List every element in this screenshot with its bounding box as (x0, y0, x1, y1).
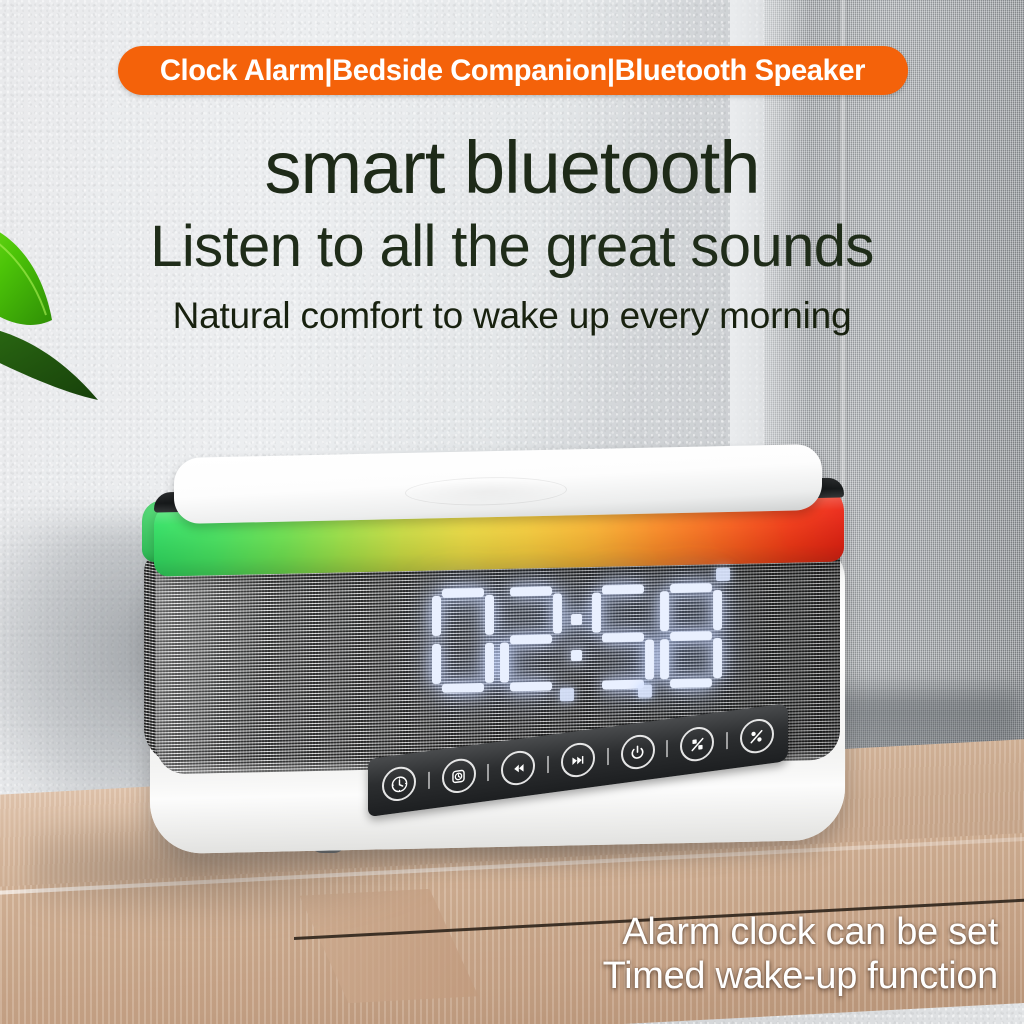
led-colon-separator (568, 585, 586, 689)
led-digit-hour-tens (432, 587, 494, 692)
control-separator (428, 771, 430, 788)
control-separator (487, 763, 489, 780)
clock-icon (390, 773, 409, 795)
wireless-charging-pad (174, 444, 822, 524)
headline-tertiary: Natural comfort to wake up every morning (0, 294, 1024, 338)
led-digit-minute-ones (660, 582, 722, 687)
power-icon (628, 741, 647, 763)
alarm-clock-icon (449, 765, 468, 787)
footer-line-1: Alarm clock can be set (603, 910, 998, 954)
control-separator (547, 755, 549, 772)
led-digit-hour-ones (500, 586, 562, 691)
headline-block: smart bluetooth Listen to all the great … (0, 130, 1024, 338)
led-clock-display (432, 572, 722, 703)
control-separator (607, 747, 609, 764)
power-button[interactable] (621, 733, 655, 772)
previous-track-button[interactable] (501, 749, 535, 788)
clock-button[interactable] (382, 765, 416, 804)
footer-line-2: Timed wake-up function (603, 954, 998, 998)
brightness-down-button[interactable] (680, 725, 714, 764)
footer-caption: Alarm clock can be set Timed wake-up fun… (603, 910, 998, 998)
top-banner: Clock Alarm|Bedside Companion|Bluetooth … (118, 46, 908, 95)
headline-primary: smart bluetooth (0, 130, 1024, 207)
alarm-button[interactable] (442, 757, 476, 796)
product-speaker (132, 455, 862, 870)
brightness-high-icon (747, 725, 766, 747)
brightness-up-button[interactable] (740, 717, 774, 756)
rewind-icon (509, 757, 528, 779)
control-separator (726, 731, 728, 748)
banner-text: Clock Alarm|Bedside Companion|Bluetooth … (160, 54, 865, 88)
headline-secondary: Listen to all the great sounds (0, 215, 1024, 280)
control-separator (666, 739, 668, 756)
led-digit-minute-tens (592, 584, 654, 689)
brightness-low-icon (688, 733, 707, 755)
fast-forward-icon (568, 749, 587, 771)
next-track-button[interactable] (561, 741, 595, 780)
